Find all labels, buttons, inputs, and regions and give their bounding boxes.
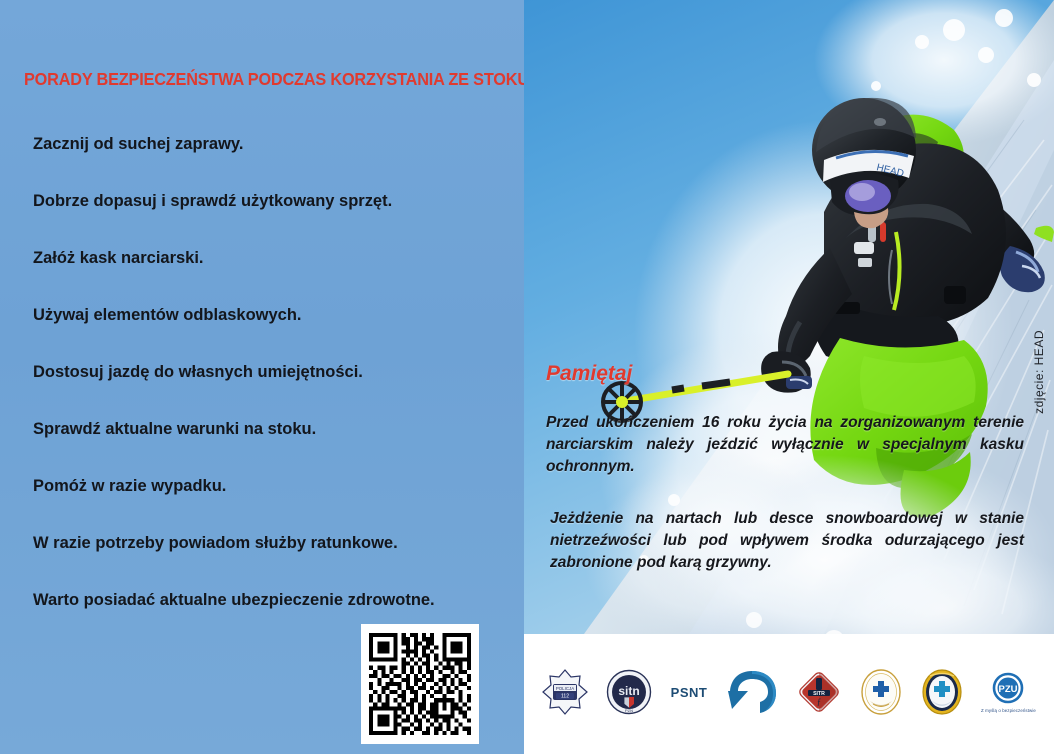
list-item: Używaj elementów odblaskowych. (33, 303, 489, 360)
qr-code[interactable] (361, 624, 479, 744)
list-item: Zacznij od suchej zaprawy. (33, 132, 489, 189)
page-title: PORADY BEZPIECZEŃSTWA PODCZAS KORZYSTANI… (24, 69, 470, 90)
partner-logo-strip: POLICJA 112 sitn PZN PSNT (524, 634, 1054, 754)
photo-credit: zdjęcie: HEAD (1032, 330, 1046, 414)
medical-oval-gold-icon (921, 668, 963, 716)
logo-medical-oval-gold (921, 664, 963, 720)
logo-medical-oval-white (860, 664, 902, 720)
logo-pzu: PZU Z myślą o bezpieczeństwie (981, 664, 1036, 720)
logo-psnt: PSNT (671, 664, 708, 720)
list-item: Dostosuj jazdę do własnych umiejętności. (33, 360, 489, 417)
svg-text:PZN: PZN (625, 708, 633, 713)
remember-paragraph-1: Przed ukończeniem 16 roku życia na zorga… (546, 412, 1024, 478)
list-item: Dobrze dopasuj i sprawdź użytkowany sprz… (33, 189, 489, 246)
left-panel: PORADY BEZPIECZEŃSTWA PODCZAS KORZYSTANI… (0, 0, 524, 754)
svg-text:POLICJA: POLICJA (556, 686, 574, 691)
police-star-icon: POLICJA 112 (542, 669, 588, 715)
remember-block: Pamiętaj Przed ukończeniem 16 roku życia… (546, 362, 1024, 574)
medical-oval-white-icon (860, 668, 902, 716)
logo-sitn-pzn: sitn PZN (606, 664, 652, 720)
svg-text:PZU: PZU (999, 684, 1018, 695)
svg-text:112: 112 (561, 694, 569, 700)
list-item: Sprawdź aktualne warunki na stoku. (33, 417, 489, 474)
list-item: Pomóż w razie wypadku. (33, 474, 489, 531)
list-item: Załóż kask narciarski. (33, 246, 489, 303)
right-panel: HEAD (524, 0, 1054, 754)
logo-sitr: SITR ƒ (796, 664, 842, 720)
pzu-icon: PZU (986, 672, 1030, 706)
blue-swirl-icon (726, 669, 778, 715)
safety-poster: PORADY BEZPIECZEŃSTWA PODCZAS KORZYSTANI… (0, 0, 1054, 754)
logo-gopr-swirl (726, 664, 778, 720)
safety-tips-list: Zacznij od suchej zaprawy. Dobrze dopasu… (33, 132, 503, 645)
sitr-diamond-icon: SITR ƒ (796, 669, 842, 715)
svg-text:sitn: sitn (619, 684, 640, 698)
psnt-wordmark: PSNT (671, 685, 708, 700)
sitn-shield-icon: sitn PZN (606, 669, 652, 715)
svg-text:ƒ: ƒ (817, 697, 822, 707)
skier-photo: HEAD (524, 0, 1054, 634)
qr-code-icon (361, 624, 479, 744)
remember-paragraph-2: Jeżdżenie na nartach lub desce snowboard… (546, 508, 1024, 574)
list-item: W razie potrzeby powiadom służby ratunko… (33, 531, 489, 588)
pzu-tagline: Z myślą o bezpieczeństwie (981, 708, 1036, 713)
remember-title: Pamiętaj (546, 362, 1024, 386)
logo-police-112: POLICJA 112 (542, 664, 588, 720)
